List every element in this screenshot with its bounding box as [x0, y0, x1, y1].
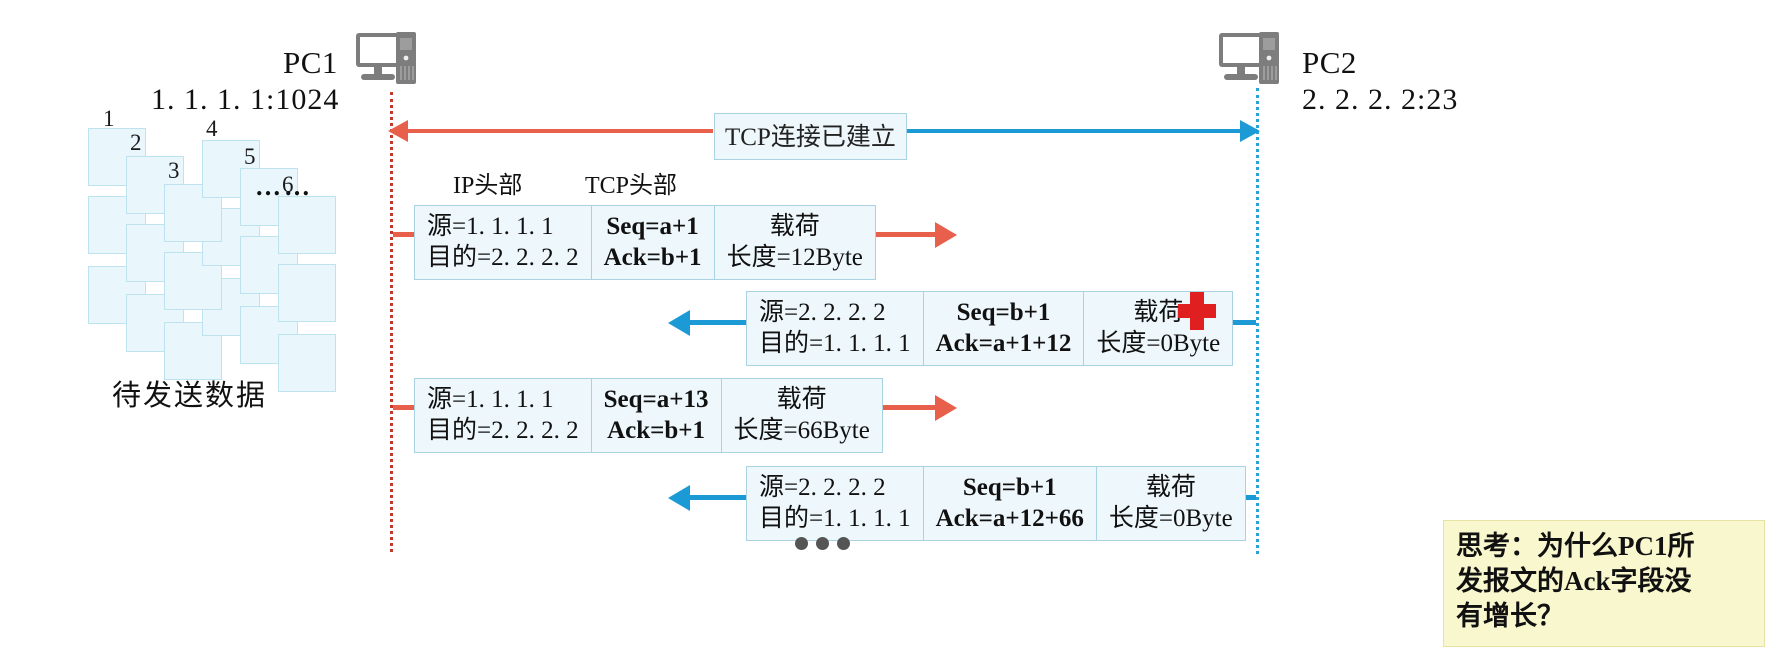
packet-3-ip-header: 源=1. 1. 1. 1 目的=2. 2. 2. 2	[415, 379, 592, 452]
tcp-established-label: TCP连接已建立	[714, 113, 907, 160]
packet-4-ip-dst: 目的=1. 1. 1. 1	[759, 504, 911, 535]
pc2-address-label: 2. 2. 2. 2:23	[1302, 83, 1458, 117]
packet-4-ip-src: 源=2. 2. 2. 2	[759, 473, 911, 504]
banner-arrow-right-icon	[1240, 120, 1260, 142]
packet-4-tcp-ack: Ack=a+12+66	[936, 504, 1084, 535]
pc2-computer-icon	[1218, 30, 1298, 101]
stack-number-4: 4	[206, 116, 218, 142]
stack-number-2: 2	[130, 130, 142, 156]
packet-4-tcp-seq: Seq=b+1	[936, 473, 1084, 504]
packet-2-tcp-header: Seq=b+1 Ack=a+1+12	[924, 292, 1085, 365]
stack-square	[278, 334, 336, 392]
lifeline-pc2	[1256, 88, 1259, 554]
stack-number-3: 3	[168, 158, 180, 184]
packet-1-tcp-seq: Seq=a+1	[604, 212, 702, 243]
packet-1-ip-header: 源=1. 1. 1. 1 目的=2. 2. 2. 2	[415, 206, 592, 279]
packet-3-payload-length: 长度=66Byte	[734, 416, 870, 447]
packet-1: 源=1. 1. 1. 1 目的=2. 2. 2. 2 Seq=a+1 Ack=b…	[414, 205, 876, 280]
packet-2-tcp-ack: Ack=a+1+12	[936, 329, 1072, 360]
packet-1-ip-src: 源=1. 1. 1. 1	[427, 212, 579, 243]
flow-continuation-ellipsis-icon	[795, 537, 850, 550]
packet-1-arrow-head-icon	[935, 222, 957, 248]
packet-4-payload-label: 载荷	[1109, 473, 1233, 504]
banner-line-red	[393, 129, 713, 133]
packet-3-tcp-ack: Ack=b+1	[604, 416, 709, 447]
packet-3-payload: 载荷 长度=66Byte	[722, 379, 882, 452]
stack-square-6	[278, 196, 336, 254]
packet-3-ip-src: 源=1. 1. 1. 1	[427, 385, 579, 416]
question-note-line-1: 思考：为什么PC1所	[1456, 529, 1752, 564]
red-cross-icon	[1178, 292, 1216, 330]
packet-1-payload-label: 载荷	[727, 212, 863, 243]
packet-2-payload-length: 长度=0Byte	[1096, 329, 1220, 360]
pc1-name-label: PC1	[283, 45, 338, 81]
packet-1-tcp-header: Seq=a+1 Ack=b+1	[592, 206, 715, 279]
packet-3: 源=1. 1. 1. 1 目的=2. 2. 2. 2 Seq=a+13 Ack=…	[414, 378, 883, 453]
pc1-computer-icon	[355, 30, 435, 101]
packet-1-ip-dst: 目的=2. 2. 2. 2	[427, 243, 579, 274]
packet-3-tcp-header: Seq=a+13 Ack=b+1	[592, 379, 722, 452]
packet-1-payload-length: 长度=12Byte	[727, 243, 863, 274]
packet-4-payload: 载荷 长度=0Byte	[1097, 467, 1245, 540]
lifeline-pc1	[390, 92, 393, 552]
question-note: 思考：为什么PC1所 发报文的Ack字段没 有增长？	[1443, 520, 1765, 647]
packet-2-arrow-head-icon	[668, 310, 690, 336]
packet-4-arrow-head-icon	[668, 485, 690, 511]
packet-2-tcp-seq: Seq=b+1	[936, 298, 1072, 329]
pending-data-caption: 待发送数据	[112, 372, 267, 414]
ip-header-caption: IP头部	[453, 165, 522, 200]
stack-number-5: 5	[244, 144, 256, 170]
stack-number-1: 1	[103, 106, 115, 132]
packet-4: 源=2. 2. 2. 2 目的=1. 1. 1. 1 Seq=b+1 Ack=a…	[746, 466, 1246, 541]
packet-4-tcp-header: Seq=b+1 Ack=a+12+66	[924, 467, 1097, 540]
packet-4-ip-header: 源=2. 2. 2. 2 目的=1. 1. 1. 1	[747, 467, 924, 540]
pc2-name-label: PC2	[1302, 45, 1357, 81]
packet-1-payload: 载荷 长度=12Byte	[715, 206, 875, 279]
packet-2-ip-src: 源=2. 2. 2. 2	[759, 298, 911, 329]
packet-2: 源=2. 2. 2. 2 目的=1. 1. 1. 1 Seq=b+1 Ack=a…	[746, 291, 1233, 366]
pending-data-stack: 1 2 3 4 5 6	[78, 118, 378, 358]
packet-3-payload-label: 载荷	[734, 385, 870, 416]
tcp-header-caption: TCP头部	[585, 165, 677, 200]
pc1-address-label: 1. 1. 1. 1:1024	[151, 83, 339, 117]
question-note-line-2: 发报文的Ack字段没	[1456, 564, 1752, 599]
packet-2-ip-dst: 目的=1. 1. 1. 1	[759, 329, 911, 360]
packet-1-tcp-ack: Ack=b+1	[604, 243, 702, 274]
packet-3-tcp-seq: Seq=a+13	[604, 385, 709, 416]
stack-ellipsis: ……	[255, 172, 313, 202]
packet-4-payload-length: 长度=0Byte	[1109, 504, 1233, 535]
tcp-sequence-diagram: PC1 1. 1. 1. 1:1024 PC2 2. 2. 2. 2:23	[0, 0, 1776, 660]
packet-3-arrow-head-icon	[935, 395, 957, 421]
stack-square	[278, 264, 336, 322]
packet-2-ip-header: 源=2. 2. 2. 2 目的=1. 1. 1. 1	[747, 292, 924, 365]
question-note-line-3: 有增长？	[1456, 599, 1752, 634]
packet-3-ip-dst: 目的=2. 2. 2. 2	[427, 416, 579, 447]
banner-line-blue	[899, 129, 1257, 133]
